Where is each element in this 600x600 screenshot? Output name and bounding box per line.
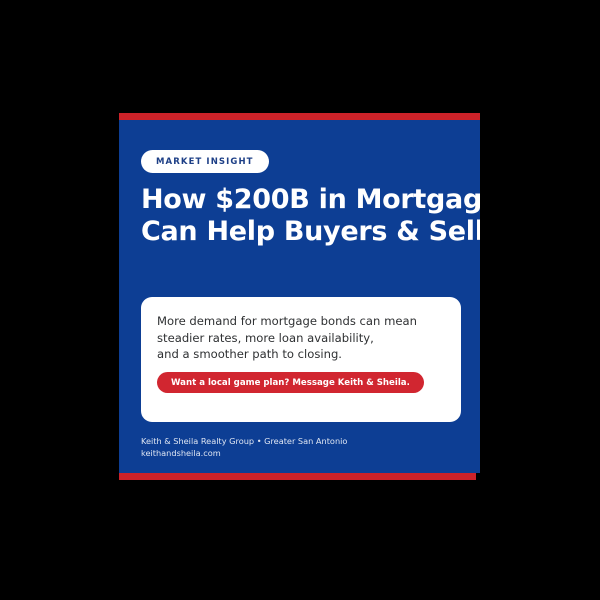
eyebrow-pill: MARKET INSIGHT [141,150,269,173]
footer-brand-line: Keith & Sheila Realty Group • Greater Sa… [141,435,347,447]
headline-line-1: How $200B in Mortgage [141,184,480,216]
content-card: More demand for mortgage bonds can mean … [141,297,461,422]
screenshot-canvas: MARKET INSIGHT How $200B in Mortgage Can… [0,0,600,600]
body-copy: More demand for mortgage bonds can mean … [157,313,449,363]
social-graphic: MARKET INSIGHT How $200B in Mortgage Can… [119,113,480,480]
headline: How $200B in Mortgage Can Help Buyers & … [141,184,480,248]
body-line-1: More demand for mortgage bonds can mean [157,313,449,330]
top-accent-bar [119,113,480,120]
message-cta-button[interactable]: Want a local game plan? Message Keith & … [157,372,424,393]
body-line-2: steadier rates, more loan availability, [157,330,449,347]
footer: Keith & Sheila Realty Group • Greater Sa… [141,435,347,459]
eyebrow-label: MARKET INSIGHT [156,157,254,167]
bottom-accent-bar [119,473,476,480]
blue-panel: MARKET INSIGHT How $200B in Mortgage Can… [119,120,480,473]
body-line-3: and a smoother path to closing. [157,346,449,363]
footer-website-line: keithandsheila.com [141,447,347,459]
headline-line-2: Can Help Buyers & Sellers [141,216,480,248]
cta-label: Want a local game plan? Message Keith & … [171,378,410,388]
